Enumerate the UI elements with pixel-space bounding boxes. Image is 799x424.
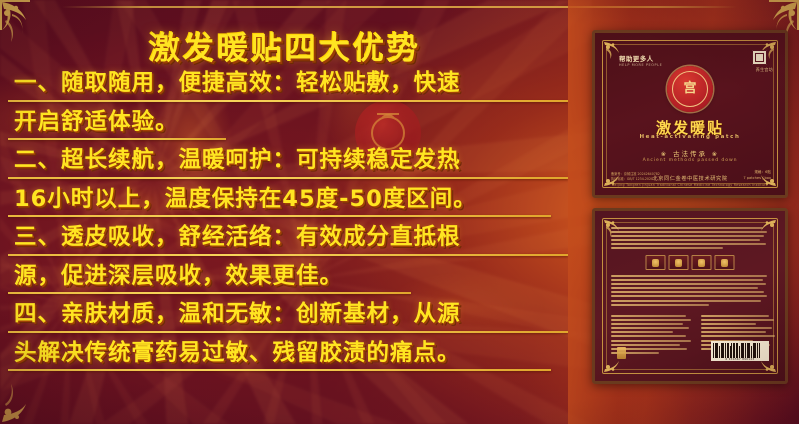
- list-item: 开启舒适体验。: [8, 111, 568, 141]
- list-item: 源，促进深层吸收，效果更佳。: [8, 265, 568, 295]
- license-line-2: 执行标准：GB/T 1234-2020: [611, 177, 660, 182]
- list-item: 16小时以上，温度保持在45度-50度区间。: [8, 188, 568, 218]
- flower-icon: ❀: [661, 151, 668, 158]
- barcode: 6 934567 890123: [711, 341, 769, 361]
- usage-step-icon: [715, 255, 735, 270]
- back-copy-block-1: [611, 227, 769, 252]
- usage-step-icon: [692, 255, 712, 270]
- product-name-en: Heat-activating patch: [595, 134, 785, 140]
- list-item: 一、随取随用，便捷高效：轻松贴敷，快速: [8, 72, 568, 102]
- brand-slogan-en: HELP MORE PEOPLE: [619, 63, 662, 67]
- seal-emblem-icon: 宫: [667, 66, 713, 112]
- brand-logo-icon: [752, 50, 767, 65]
- warning-icon: [617, 347, 626, 359]
- product-tagline-en: Ancient methods passed down: [595, 158, 785, 163]
- product-box-front-image[interactable]: 帮助更多人 HELP MORE PEOPLE 养生宫坊 宫 激发暖贴 Heat-…: [592, 30, 788, 198]
- flower-icon: ❀: [712, 151, 719, 158]
- product-box-back-image[interactable]: 6 934567 890123: [592, 208, 788, 384]
- seal-emblem-glyph: 宫: [672, 71, 708, 107]
- manufacturer-en: Beijing Tongren Jinjuan Traditional Chin…: [595, 183, 785, 187]
- page-title: 激发暖贴四大优势: [100, 22, 470, 68]
- brand-slogan-cn: 帮助更多人: [619, 55, 654, 63]
- advantage-list: 一、随取随用，便捷高效：轻松贴敷，快速 开启舒适体验。 二、超长续航，温暖呵护：…: [8, 72, 568, 380]
- product-spec: 规格：6贴 7 patches / box: [743, 170, 771, 181]
- usage-illustration-row: [646, 255, 735, 270]
- list-item: 四、亲肤材质，温和无敏：创新基材，从源: [8, 303, 568, 333]
- poster-canvas: 激发暖贴四大优势 一、随取随用，便捷高效：轻松贴敷，快速 开启舒适体验。 二、超…: [0, 0, 799, 424]
- barcode-number: 6 934567 890123: [711, 358, 769, 361]
- list-item: 头解决传统膏药易过敏、残留胶渍的痛点。: [8, 342, 568, 372]
- brand-slogan: 帮助更多人 HELP MORE PEOPLE: [619, 53, 662, 67]
- license-info: 备案号：京械注准 20242640782 执行标准：GB/T 1234-2020: [611, 172, 660, 182]
- list-item: 三、透皮吸收，舒经活络：有效成分直抵根: [8, 226, 568, 256]
- brand-logo-caption: 养生宫坊: [756, 67, 773, 73]
- product-spec-en: 7 patches / box: [743, 176, 771, 181]
- list-item: 二、超长续航，温暖呵护：可持续稳定发热: [8, 149, 568, 179]
- product-tagline: ❀古法传承❀: [595, 148, 785, 158]
- product-tagline-text: 古法传承: [673, 150, 707, 158]
- usage-step-icon: [669, 255, 689, 270]
- usage-step-icon: [646, 255, 666, 270]
- back-copy-block-2: [611, 275, 769, 308]
